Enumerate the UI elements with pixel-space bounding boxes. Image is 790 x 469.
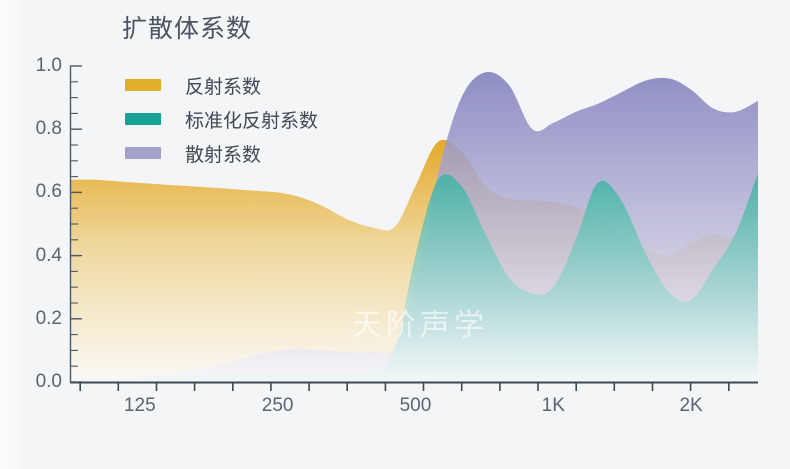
x-axis-tick-label: 250 bbox=[262, 395, 294, 417]
legend-item-label: 反射系数 bbox=[185, 72, 261, 99]
coefficient-area-chart bbox=[0, 0, 790, 469]
x-axis-tick-label: 125 bbox=[124, 395, 156, 417]
x-axis-tick-label: 500 bbox=[400, 395, 432, 417]
y-axis-tick-label: 0.2 bbox=[10, 308, 62, 330]
legend-item-label: 散射系数 bbox=[185, 140, 261, 167]
legend-item[interactable]: 散射系数 bbox=[125, 136, 318, 170]
x-axis-tick-label: 2K bbox=[679, 395, 702, 417]
chart-card: 扩散体系数 bbox=[0, 0, 790, 469]
y-axis-tick-label: 0.6 bbox=[10, 181, 62, 203]
x-axis-tick-label: 1K bbox=[542, 395, 565, 417]
legend-swatch-normalized bbox=[125, 113, 161, 125]
legend-item[interactable]: 标准化反射系数 bbox=[125, 102, 318, 136]
legend-item[interactable]: 反射系数 bbox=[125, 68, 318, 102]
y-axis-tick-label: 0.0 bbox=[10, 371, 62, 393]
y-axis-labels: 0.00.20.40.60.81.0 bbox=[6, 0, 62, 469]
chart-legend: 反射系数标准化反射系数散射系数 bbox=[125, 68, 318, 170]
legend-swatch-reflection bbox=[125, 79, 161, 91]
legend-item-label: 标准化反射系数 bbox=[185, 106, 318, 133]
y-axis-tick-label: 1.0 bbox=[10, 55, 62, 77]
y-axis-tick-label: 0.8 bbox=[10, 118, 62, 140]
y-axis-tick-label: 0.4 bbox=[10, 245, 62, 267]
legend-swatch-scattering bbox=[125, 147, 161, 159]
